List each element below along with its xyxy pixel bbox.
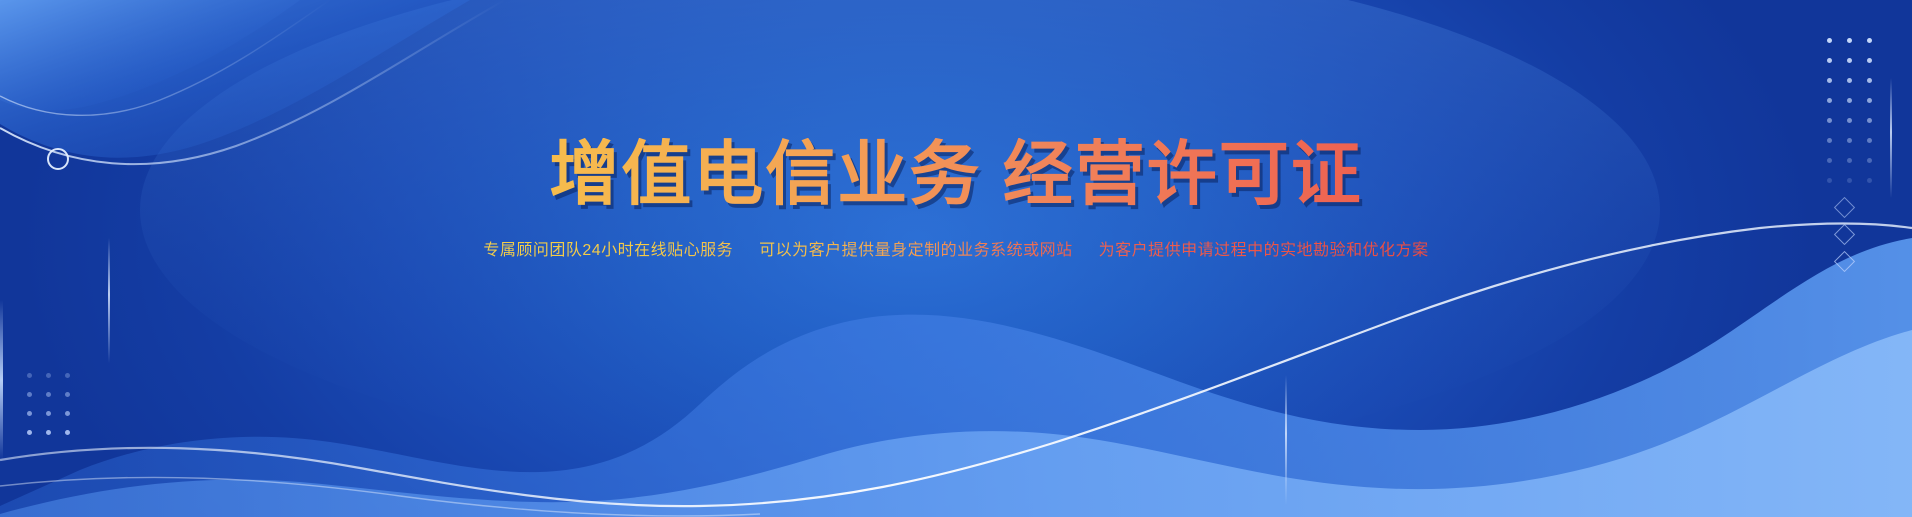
promo-banner: 增值电信业务 经营许可证 专属顾问团队24小时在线贴心服务 可以为客户提供量身定… xyxy=(0,0,1912,517)
banner-subtitle-row: 专属顾问团队24小时在线贴心服务 可以为客户提供量身定制的业务系统或网站 为客户… xyxy=(0,236,1912,260)
dot-grid-bottom-left-icon xyxy=(20,366,77,442)
vertical-bar-decor xyxy=(0,300,3,460)
banner-subtitle-item: 可以为客户提供量身定制的业务系统或网站 xyxy=(759,236,1073,260)
banner-subtitle-item: 为客户提供申请过程中的实地勘验和优化方案 xyxy=(1099,236,1429,260)
banner-subtitle-item: 专属顾问团队24小时在线贴心服务 xyxy=(483,236,733,260)
banner-headline: 增值电信业务 经营许可证 xyxy=(0,138,1912,212)
vertical-bar-decor xyxy=(1285,375,1287,505)
